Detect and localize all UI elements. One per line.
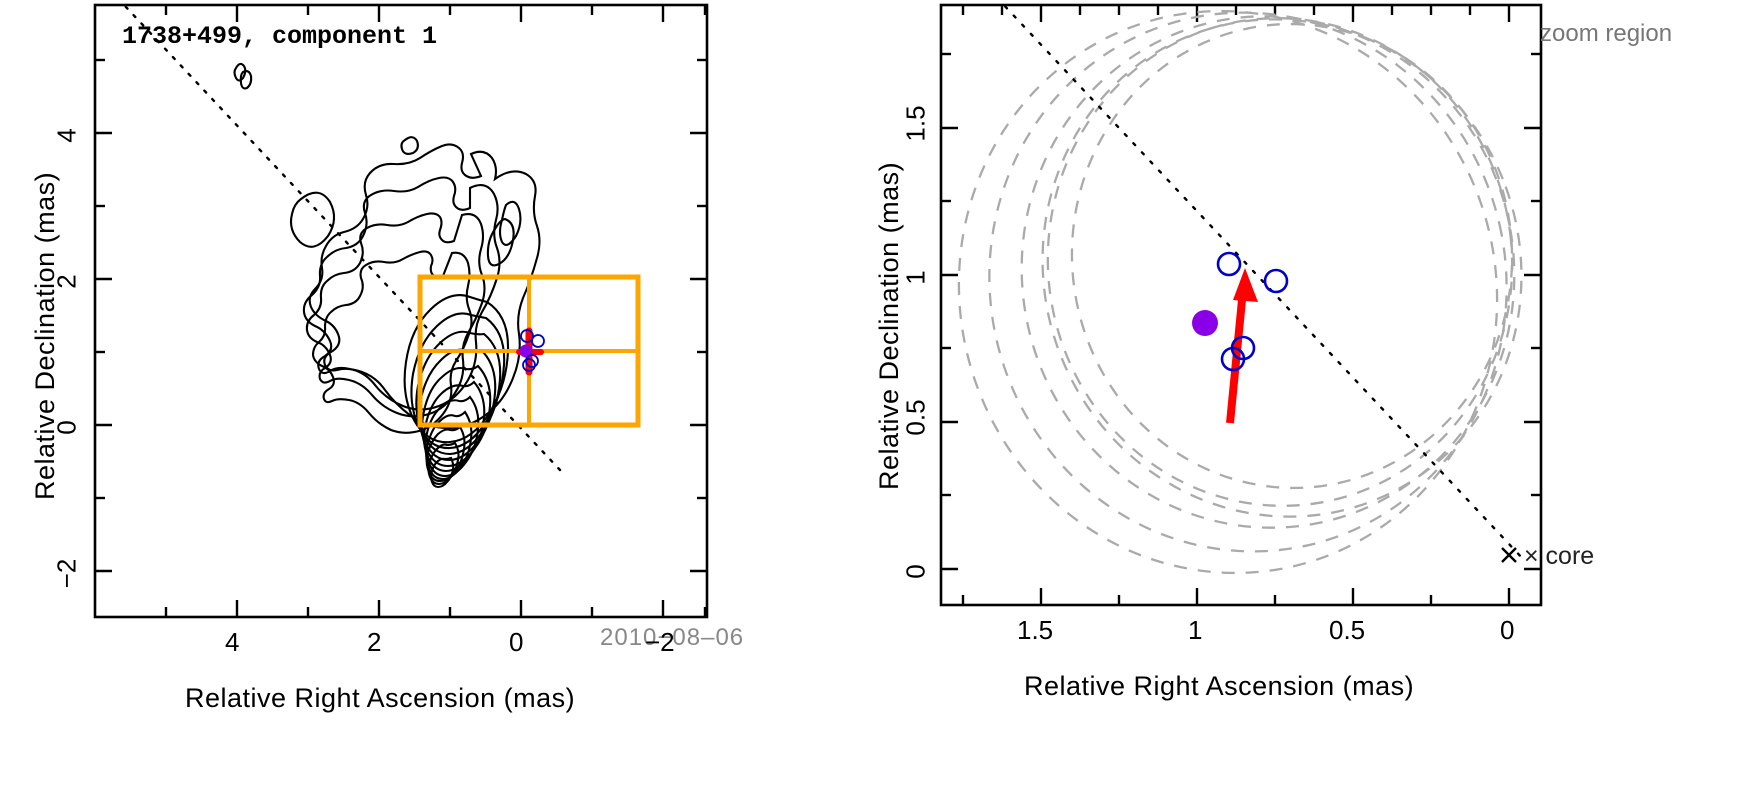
right-ytick-0: 1.5 — [901, 97, 932, 151]
left-ytick-0: 4 — [52, 121, 83, 151]
figure-root: 1738+499, component 1 2010−08–06 4 2 0 −… — [0, 0, 1751, 809]
right-xaxis-title: Relative Right Ascension (mas) — [1024, 671, 1414, 702]
right-top-ticks — [963, 5, 1509, 22]
right-right-ticks — [1524, 54, 1541, 569]
right-ytick-2: 0.5 — [901, 391, 932, 445]
right-ytick-1: 1 — [901, 263, 932, 293]
right-left-ticks — [941, 54, 958, 569]
left-ytick-3: −2 — [52, 553, 83, 595]
left-xtick-2: 0 — [509, 627, 523, 658]
left-left-ticks — [95, 60, 112, 571]
right-yaxis-title: Relative Declination (mas) — [874, 162, 905, 490]
left-top-ticks — [166, 5, 705, 22]
left-xaxis-title: Relative Right Ascension (mas) — [185, 683, 575, 714]
right-xtick-0: 1.5 — [1017, 615, 1053, 646]
component-marker-cluster — [519, 330, 544, 372]
left-yaxis-title: Relative Declination (mas) — [30, 172, 61, 500]
zoom-region-note: zoom region — [1540, 20, 1672, 48]
left-xtick-1: 2 — [367, 627, 381, 658]
right-ytick-3: 0 — [901, 557, 932, 587]
right-bottom-ticks — [963, 588, 1509, 605]
right-xtick-3: 0 — [1500, 615, 1514, 646]
left-xtick-0: 4 — [225, 627, 239, 658]
component-position-marker — [1192, 310, 1218, 336]
page-title: 1738+499, component 1 — [122, 22, 437, 51]
left-right-ticks — [690, 60, 707, 571]
left-panel-contour-map: 1738+499, component 1 2010−08–06 4 2 0 −… — [0, 0, 875, 809]
left-xtick-3: −2 — [645, 627, 675, 658]
left-plot-frame — [95, 5, 707, 617]
right-xtick-2: 0.5 — [1329, 615, 1365, 646]
right-panel-zoom-region: zoom region × core 1.5 1 0.5 0 1.5 1 0.5… — [876, 0, 1751, 809]
core-label: × core — [1524, 542, 1594, 571]
right-xtick-1: 1 — [1188, 615, 1202, 646]
left-bottom-ticks — [166, 600, 705, 617]
core-cross-icon — [1502, 548, 1516, 562]
